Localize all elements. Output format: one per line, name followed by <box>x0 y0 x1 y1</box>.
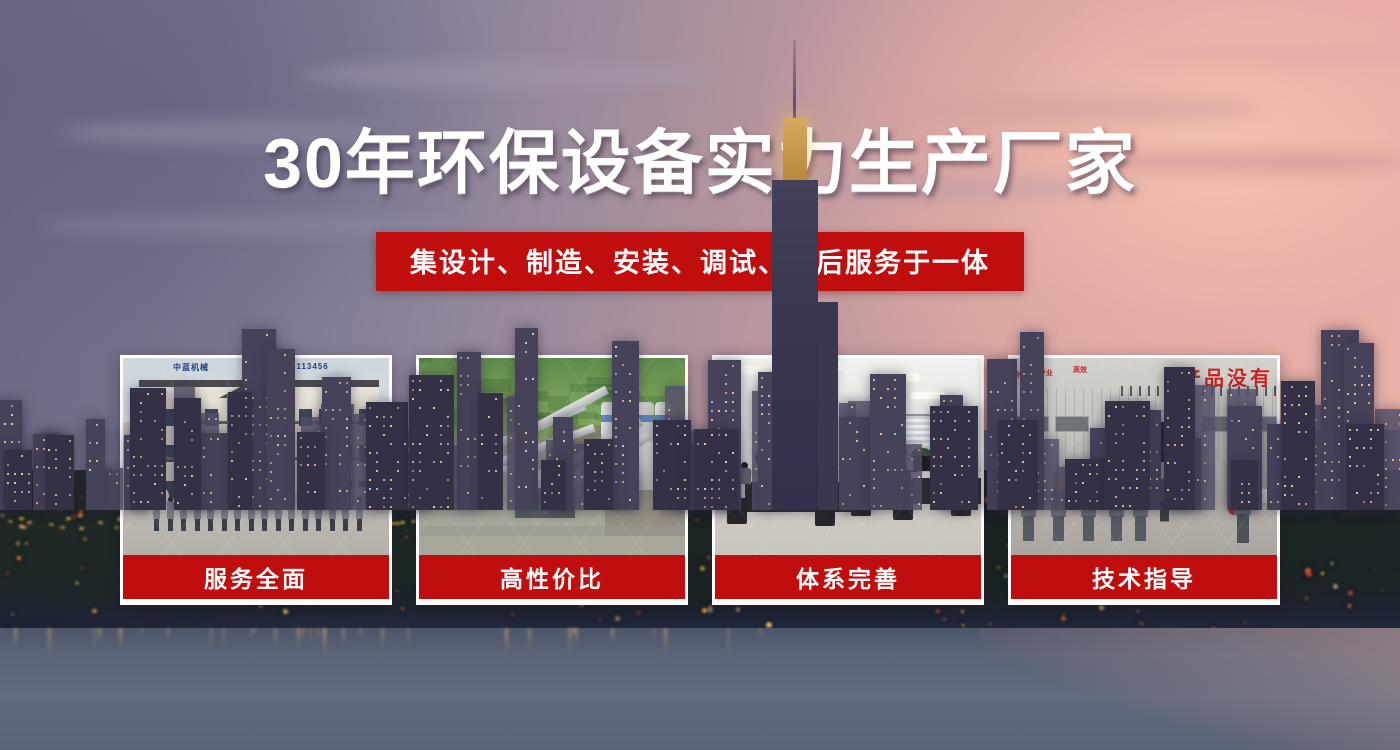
skyline-building <box>930 406 978 510</box>
city-light <box>6 572 9 575</box>
skyline-building <box>694 429 739 510</box>
road-light <box>19 517 24 520</box>
water-reflection <box>222 628 225 650</box>
skyline-building <box>45 435 74 510</box>
factory-window <box>1055 416 1089 432</box>
road-light <box>78 514 83 517</box>
water-reflection <box>167 628 170 639</box>
city-light <box>1099 605 1103 609</box>
water-reflection <box>140 628 143 638</box>
water-reflection <box>309 628 312 644</box>
employee <box>739 462 751 486</box>
water-reflection <box>611 628 614 644</box>
city-light <box>72 514 77 519</box>
city-light <box>92 609 96 613</box>
skyline-building <box>228 392 252 510</box>
river-sunset-reflection <box>980 628 1400 750</box>
city-light <box>83 537 87 541</box>
water-reflection <box>575 628 578 648</box>
city-light <box>961 610 964 613</box>
road-light <box>60 526 65 529</box>
city-light <box>702 608 707 613</box>
skyline-building <box>998 420 1038 510</box>
water-reflection <box>323 628 326 655</box>
skyline-building <box>409 375 454 511</box>
skyline-building <box>4 450 32 510</box>
skyline-building <box>653 420 692 510</box>
city-light <box>1381 589 1383 591</box>
skyline-building <box>584 439 613 510</box>
cloud <box>880 95 1260 123</box>
staff-member <box>167 497 174 531</box>
water-reflection <box>528 628 531 651</box>
city-light <box>1348 604 1351 607</box>
city-light <box>401 607 404 610</box>
skyline-building <box>297 432 324 510</box>
city-light <box>936 609 940 613</box>
skyline-building <box>1164 367 1195 510</box>
city-light <box>17 556 21 560</box>
water-reflection <box>119 628 122 649</box>
city-light <box>75 581 79 585</box>
card-caption: 高性价比 <box>419 555 685 599</box>
skyline-building <box>478 393 503 510</box>
factory-small-slogan: 高效 <box>1073 367 1087 375</box>
road-light <box>8 520 13 523</box>
city-light <box>16 541 20 545</box>
building-phone: 4113456 <box>291 362 329 371</box>
city-light <box>80 496 82 498</box>
city-light <box>1374 569 1376 571</box>
city-light <box>1348 590 1354 596</box>
water-reflection <box>302 628 305 640</box>
road-light <box>49 523 54 526</box>
city-light <box>283 609 287 613</box>
skyline-building <box>612 341 640 510</box>
water-reflection <box>98 628 101 641</box>
city-light <box>736 607 740 611</box>
city-light <box>25 542 28 545</box>
tower-spire <box>793 40 796 118</box>
city-light <box>80 567 82 569</box>
water-reflection <box>274 628 277 650</box>
water-reflection <box>759 628 762 637</box>
city-light <box>615 616 620 621</box>
water-reflection <box>407 628 410 648</box>
city-light <box>989 623 991 625</box>
skyline-building <box>130 388 166 510</box>
road-light <box>66 517 71 520</box>
city-light <box>1305 597 1307 599</box>
city-light <box>709 605 712 608</box>
road-light <box>0 514 5 517</box>
tower-lit-crown <box>783 118 807 180</box>
city-light <box>1321 572 1324 575</box>
city-light <box>259 605 262 608</box>
water-reflection <box>505 628 508 653</box>
water-reflection <box>0 628 3 634</box>
card-caption: 体系完善 <box>715 555 981 599</box>
city-light <box>943 618 946 621</box>
water-reflection <box>14 628 17 648</box>
skyline-building <box>366 402 408 510</box>
card-caption: 服务全面 <box>123 555 389 599</box>
road-light <box>19 525 24 528</box>
water-reflection <box>253 628 256 635</box>
card-caption: 技术指导 <box>1011 555 1277 599</box>
skyline-building <box>1281 381 1315 510</box>
skyline-building <box>1231 460 1258 510</box>
city-light <box>636 611 641 616</box>
water-reflection <box>652 628 655 639</box>
water-reflection <box>727 628 730 659</box>
building-sign: 中蓝机械 <box>173 362 209 373</box>
water-reflection <box>210 628 213 650</box>
skyline-building <box>86 419 104 510</box>
water-reflection <box>93 628 96 652</box>
skyline-building <box>870 374 906 510</box>
road-light <box>79 527 84 530</box>
skyline-building <box>1105 401 1150 510</box>
skyline-building <box>541 460 566 510</box>
city-light <box>962 624 964 626</box>
city-light <box>1331 562 1333 564</box>
water-reflection <box>297 628 300 648</box>
skyline-building <box>515 328 539 510</box>
cloud <box>300 60 720 90</box>
water-reflection <box>48 628 51 657</box>
water-reflection <box>359 628 362 638</box>
promo-banner: 30年环保设备实力生产厂家 集设计、制造、安装、调试、售后服务于一体 中蓝机械 … <box>0 0 1400 750</box>
road-light <box>98 521 103 524</box>
water-reflection <box>342 628 345 646</box>
city-light <box>1333 584 1338 589</box>
water-reflection <box>316 628 319 644</box>
road-light <box>114 526 119 529</box>
city-light <box>1137 610 1139 612</box>
city-light <box>1306 572 1311 577</box>
subtitle-banner: 集设计、制造、安装、调试、售后服务于一体 <box>376 232 1024 291</box>
zifeng-tower <box>772 180 818 510</box>
skyline-building <box>174 398 201 510</box>
city-light <box>599 618 601 620</box>
city-light <box>707 607 713 613</box>
water-reflection <box>381 628 384 650</box>
skyline-building <box>322 377 350 510</box>
access-road <box>419 526 685 536</box>
city-light <box>1140 622 1144 626</box>
city-light <box>1244 621 1246 623</box>
road-light <box>27 521 32 524</box>
skyline-building <box>1346 424 1384 510</box>
page-title: 30年环保设备实力生产厂家 <box>0 128 1400 198</box>
water-reflection <box>664 628 667 648</box>
water-reflection <box>570 628 573 640</box>
farm-plot <box>419 358 433 363</box>
city-light <box>1061 616 1066 621</box>
skyline-building <box>267 349 295 510</box>
